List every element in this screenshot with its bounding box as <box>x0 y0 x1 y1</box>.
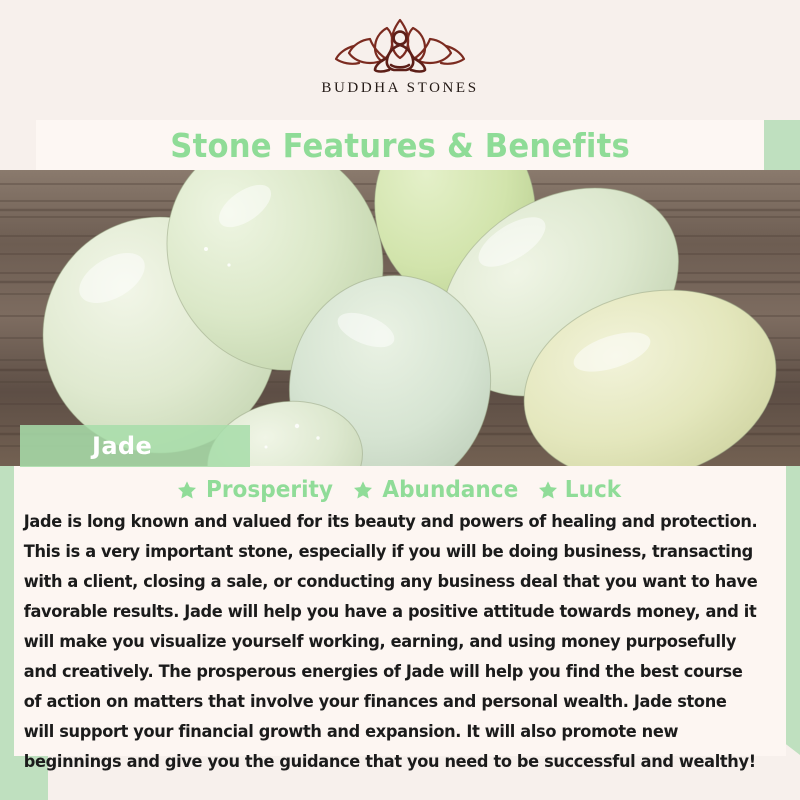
brand-name: BUDDHA STONES <box>321 80 478 97</box>
content-panel: Prosperity Abundance Luck Jade is long k… <box>14 466 786 756</box>
stone-name-label: Jade <box>92 432 152 460</box>
benefit-label: Abundance <box>382 477 518 503</box>
benefits-list: Prosperity Abundance Luck <box>14 477 786 503</box>
stone-photo <box>0 170 800 466</box>
stone-photo-illustration <box>0 170 800 466</box>
stone-description: Jade is long known and valued for its be… <box>14 507 767 777</box>
brand-header: BUDDHA STONES <box>0 0 800 120</box>
star-icon <box>538 480 558 500</box>
lotus-meditation-icon <box>325 14 475 76</box>
benefit-label: Prosperity <box>206 477 333 503</box>
title-band: Stone Features & Benefits <box>36 120 764 170</box>
stone-info-poster: Jade BUDDHA STONES Stone F <box>0 0 800 800</box>
stone-name-band: Jade <box>20 425 250 467</box>
benefit-label: Luck <box>565 477 621 503</box>
star-icon <box>353 480 373 500</box>
benefit-item: Prosperity <box>177 477 337 503</box>
page-title: Stone Features & Benefits <box>170 126 630 165</box>
benefit-item: Luck <box>538 477 623 503</box>
star-icon <box>177 480 197 500</box>
benefit-item: Abundance <box>353 477 523 503</box>
